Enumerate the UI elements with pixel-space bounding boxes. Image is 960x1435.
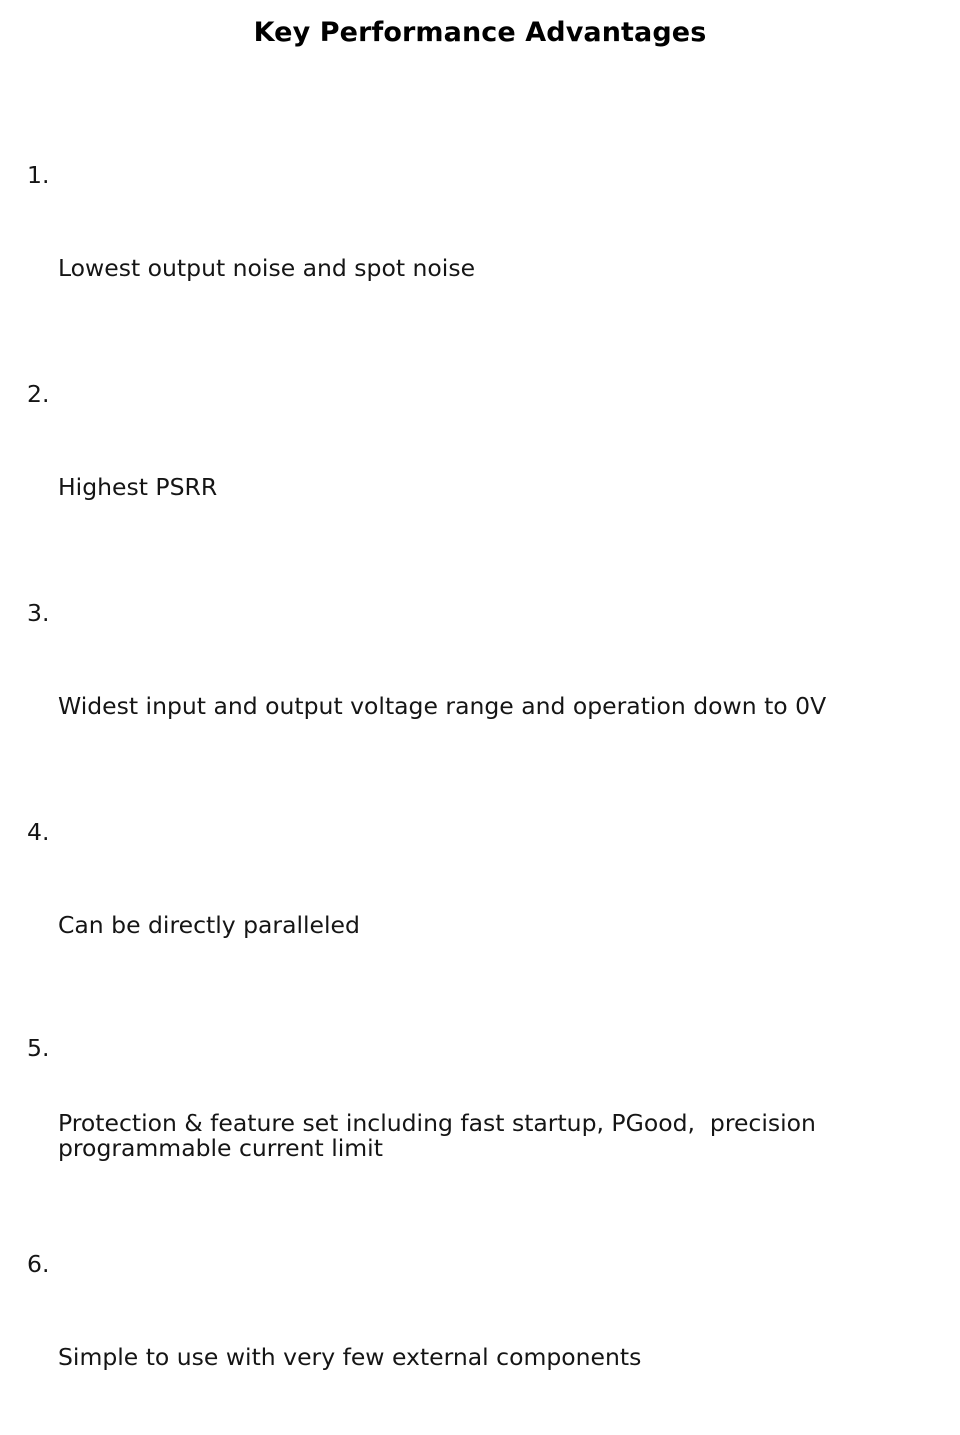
list-item-label: Lowest output noise and spot noise	[58, 253, 937, 284]
list-item-marker: 1.	[27, 160, 49, 191]
list-item-marker: 4.	[27, 817, 49, 848]
list-item-marker: 6.	[27, 1249, 49, 1280]
list-item-label: Highest PSRR	[58, 472, 937, 503]
advantages-list: 1. Lowest output noise and spot noise 2.…	[27, 160, 937, 1435]
list-item-label: Protection & feature set including fast …	[58, 1111, 937, 1161]
list-item-marker: 5.	[27, 1036, 49, 1061]
list-item: 2. Highest PSRR	[27, 379, 937, 565]
list-item-label: Widest input and output voltage range an…	[58, 691, 937, 722]
list-item: 5. Protection & feature set including fa…	[27, 1036, 937, 1211]
page-title: Key Performance Advantages	[0, 16, 960, 50]
list-item: 3. Widest input and output voltage range…	[27, 598, 937, 784]
list-item: 4. Can be directly paralleled	[27, 817, 937, 1003]
list-item: 1. Lowest output noise and spot noise	[27, 160, 937, 346]
list-item-marker: 2.	[27, 379, 49, 410]
list-item-label: Simple to use with very few external com…	[58, 1342, 937, 1373]
presentation-slide: Key Performance Advantages 1. Lowest out…	[0, 0, 960, 720]
list-item-marker: 3.	[27, 598, 49, 629]
list-item-label: Can be directly paralleled	[58, 910, 937, 941]
list-item: 6. Simple to use with very few external …	[27, 1249, 937, 1435]
